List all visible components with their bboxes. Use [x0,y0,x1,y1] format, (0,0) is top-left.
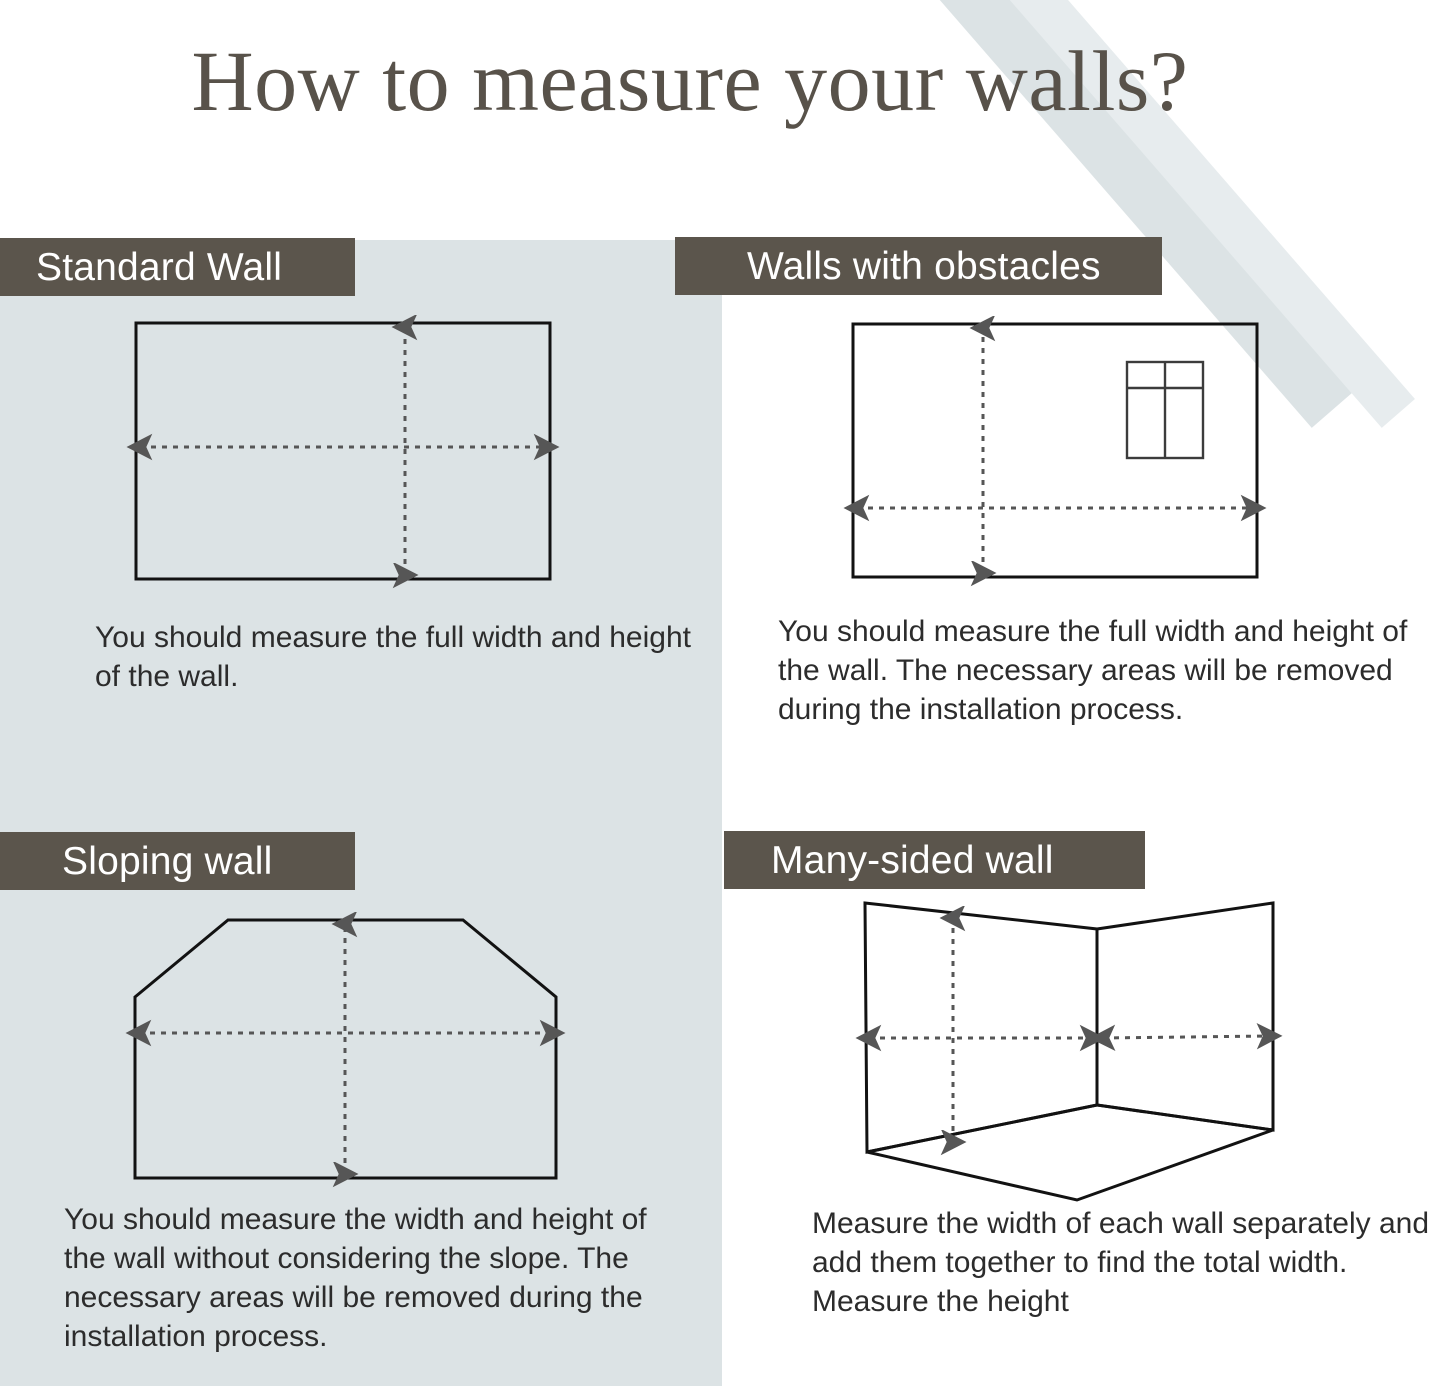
caption-sloping-wall: You should measure the width and height … [64,1200,672,1356]
infographic-page: How to measure your walls? Standard Wall [0,0,1445,1386]
diagram-many-sided-wall [845,890,1295,1215]
section-header-label: Standard Wall [36,248,282,287]
section-header-label: Many-sided wall [771,841,1054,880]
section-header-standard-wall: Standard Wall [0,238,355,296]
section-header-walls-with-obstacles: Walls with obstacles [675,237,1162,295]
diagram-standard-wall [120,305,570,595]
page-title: How to measure your walls? [0,36,1380,126]
caption-many-sided-wall: Measure the width of each wall separatel… [812,1204,1432,1321]
diagram-walls-with-obstacles [835,305,1285,595]
caption-walls-with-obstacles: You should measure the full width and he… [778,612,1418,729]
section-header-sloping-wall: Sloping wall [0,832,355,890]
window-obstacle-icon [1127,362,1203,458]
diagram-sloping-wall [118,900,573,1195]
section-header-label: Walls with obstacles [747,247,1101,286]
section-header-many-sided-wall: Many-sided wall [724,831,1145,889]
caption-standard-wall: You should measure the full width and he… [95,618,695,696]
section-header-label: Sloping wall [62,842,273,881]
